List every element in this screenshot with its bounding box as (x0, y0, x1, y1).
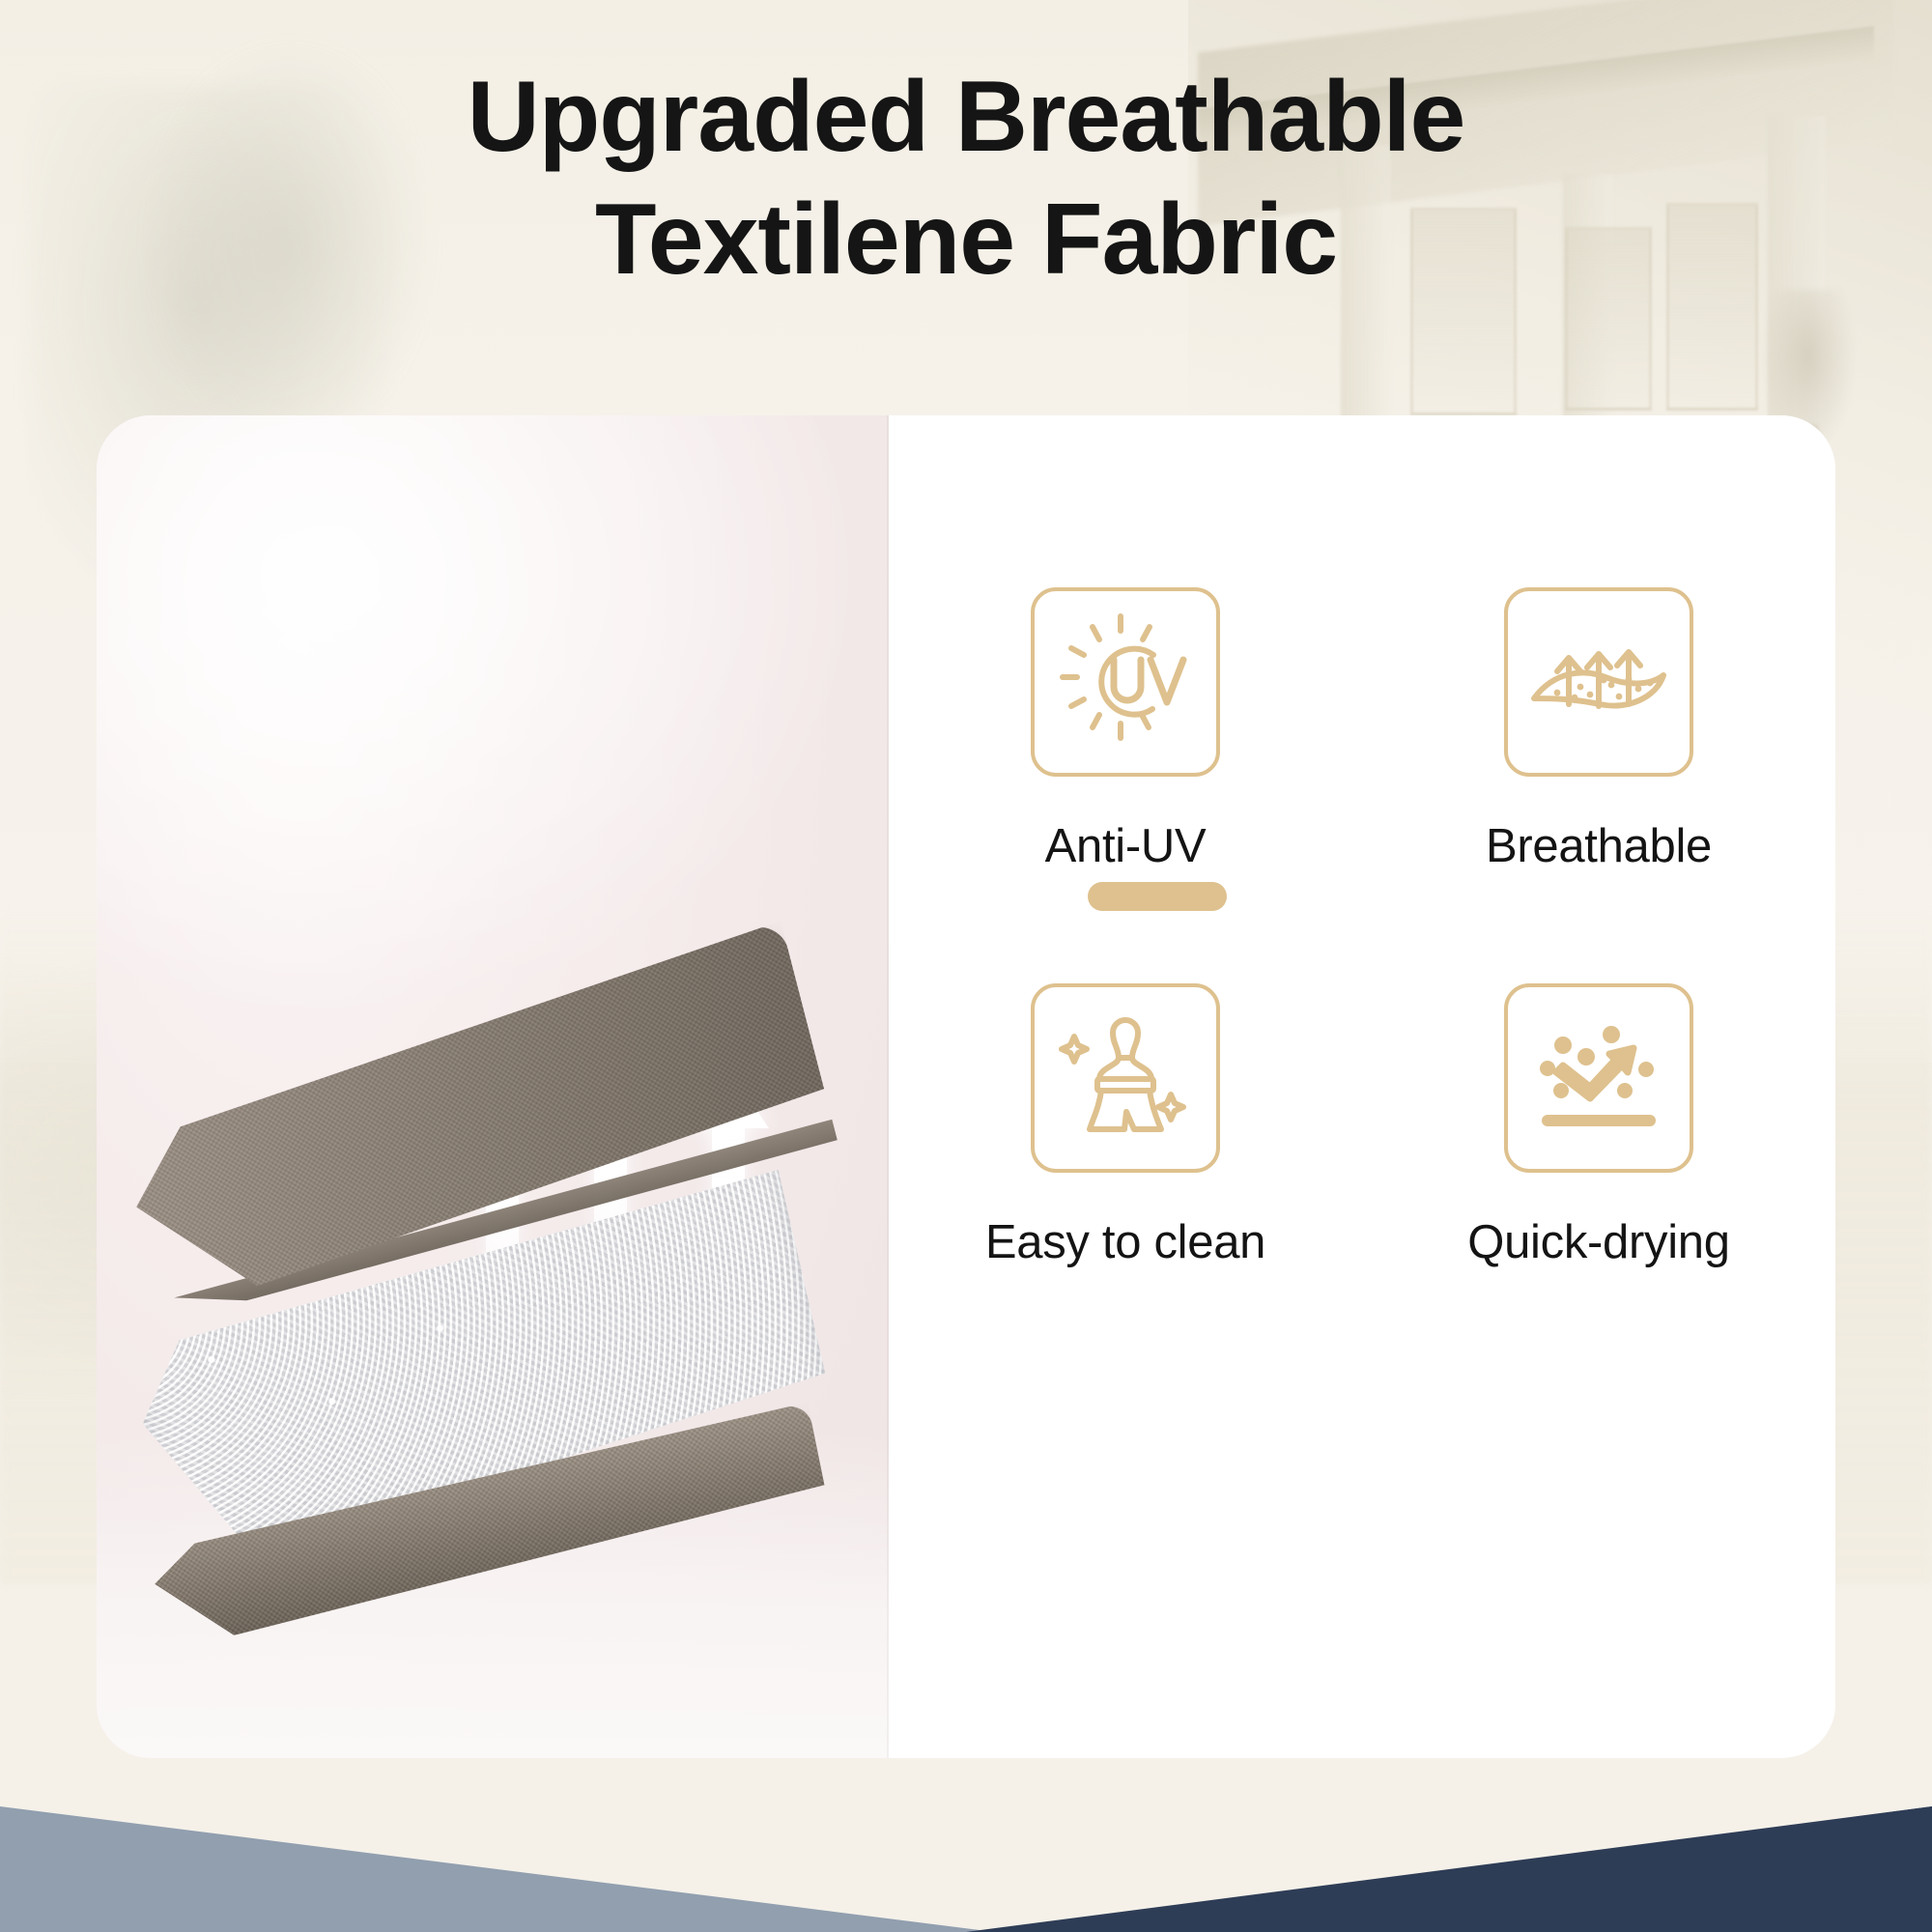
page-title: Upgraded Breathable Textilene Fabric (0, 56, 1932, 301)
infographic-root: Upgraded Breathable Textilene Fabric (0, 0, 1932, 1932)
feature-label: Anti-UV (923, 819, 1328, 873)
page-title-line-1: Upgraded Breathable (468, 61, 1465, 173)
anti-uv-sun-icon (1053, 610, 1198, 754)
feature-easy-to-clean[interactable]: Easy to clean (923, 983, 1328, 1269)
feature-icon-box (1504, 587, 1693, 777)
page-title-line-2: Textilene Fabric (0, 179, 1932, 301)
photo-backdrop-glow (97, 415, 850, 1014)
features-grid: Anti-UV (889, 587, 1835, 1269)
product-image-panel (97, 415, 889, 1758)
content-card: Anti-UV (97, 415, 1835, 1758)
feature-icon-box (1031, 587, 1220, 777)
feature-breathable[interactable]: Breathable (1396, 587, 1802, 873)
steel-blue-triangle (0, 1806, 995, 1932)
cleaning-brush-icon (1053, 1006, 1198, 1151)
feature-quick-drying[interactable]: Quick-drying (1396, 983, 1802, 1269)
bottom-decoration (0, 1681, 1932, 1932)
features-panel: Anti-UV (889, 415, 1835, 1758)
quick-drying-icon (1526, 1006, 1671, 1151)
panel-divider (887, 415, 889, 1758)
feature-anti-uv[interactable]: Anti-UV (923, 587, 1328, 873)
breathable-fabric-icon (1526, 610, 1671, 754)
feature-label: Easy to clean (923, 1215, 1328, 1269)
feature-label: Quick-drying (1396, 1215, 1802, 1269)
feature-label: Breathable (1396, 819, 1802, 873)
feature-icon-box (1031, 983, 1220, 1173)
feature-icon-box (1504, 983, 1693, 1173)
navy-triangle-fill (995, 1806, 1932, 1932)
